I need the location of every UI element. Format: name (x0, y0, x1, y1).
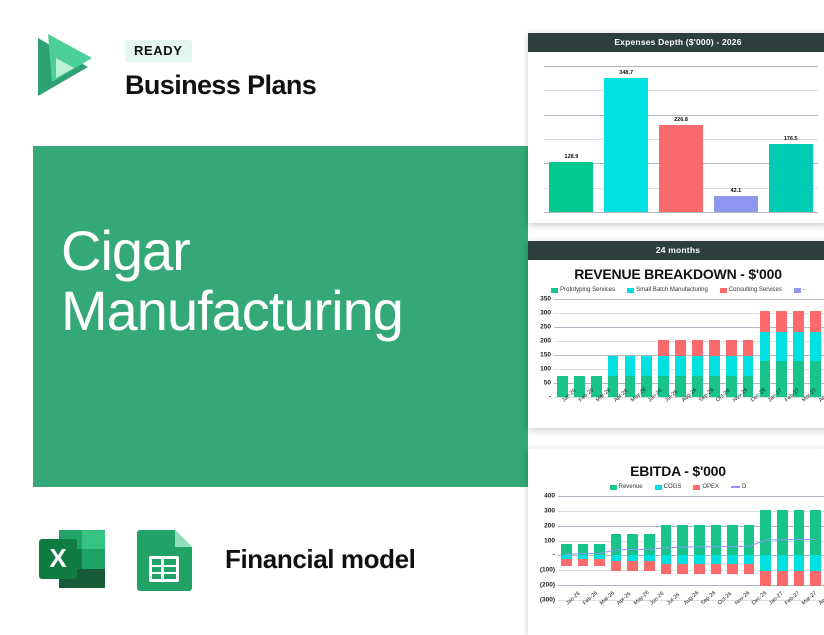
revenue-legend-label: - (803, 287, 805, 293)
chart-card-revenue: 24 months REVENUE BREAKDOWN - $'000 Prot… (528, 241, 824, 428)
stack-segment (726, 356, 737, 376)
brand-name: Business Plans (125, 70, 316, 101)
ebitda-chart-legend: RevenueCOGSOPEXD (528, 481, 824, 492)
stack-segment (709, 340, 720, 356)
stack-segment (743, 340, 754, 356)
revenue-chart-legend: Prototyping ServicesSmall Batch Manufact… (528, 284, 824, 295)
bar-2 (604, 78, 648, 212)
revenue-chart-title: REVENUE BREAKDOWN - $'000 (528, 260, 824, 284)
stack-segment (776, 332, 787, 361)
ebitda-legend-swatch (731, 486, 740, 488)
page-title-line-2: Manufacturing (61, 281, 501, 341)
expenses-plot-area: 128.9348.7226.842.1176.5 (544, 66, 818, 212)
stack-segment (760, 311, 771, 331)
revenue-chart-header: 24 months (528, 241, 824, 260)
revenue-legend-item: Prototyping Services (551, 287, 615, 293)
bar-value-label: 226.8 (674, 117, 688, 123)
ebitda-legend-label: OPEX (702, 484, 719, 490)
stack-segment (776, 311, 787, 331)
ready-badge: READY (125, 40, 192, 62)
stack-segment (743, 356, 754, 376)
ebitda-legend-swatch (655, 485, 662, 490)
ebitda-legend-swatch (610, 485, 617, 490)
stack-segment (810, 311, 821, 331)
gridline (544, 90, 818, 91)
ebitda-legend-item: COGS (655, 484, 682, 490)
stack-segment (675, 340, 686, 356)
ebitda-x-axis: Jan-26Feb-26Mar-26Apr-26May-26Jun-26Jul-… (558, 600, 824, 628)
gridline (544, 115, 818, 116)
ebitda-legend-label: Revenue (619, 484, 643, 490)
y-axis-label: 250 (540, 324, 554, 331)
stack-segment (692, 340, 703, 356)
y-axis-label: 350 (540, 296, 554, 303)
ebitda-plot-area: 400300200100-(100)(200)(300) (558, 496, 824, 600)
stack-segment (675, 356, 686, 376)
revenue-legend-item: Small Batch Manufacturing (627, 287, 708, 293)
chart-card-ebitda: EBITDA - $'000 RevenueCOGSOPEXD 40030020… (528, 449, 824, 635)
page-title-line-1: Cigar (61, 221, 501, 281)
chart-card-expenses: Expenses Depth ($'000) - 2026 128.9348.7… (528, 33, 824, 223)
stack-segment (709, 356, 720, 376)
y-axis-label: (300) (540, 597, 558, 604)
bar-value-label: 42.1 (730, 188, 741, 194)
stack-segment (793, 311, 804, 331)
y-axis-label: 400 (544, 493, 558, 500)
gridline (554, 299, 824, 300)
y-axis-label: 300 (540, 310, 554, 317)
y-axis-label: 200 (540, 338, 554, 345)
bar-value-label: 128.9 (565, 154, 579, 160)
revenue-legend-label: Prototyping Services (560, 287, 615, 293)
ebitda-legend-swatch (693, 485, 700, 490)
gridline (544, 212, 818, 213)
revenue-legend-swatch (794, 288, 801, 293)
stack-segment (625, 356, 636, 376)
stack-segment (658, 356, 669, 376)
revenue-x-axis: Jan-26Feb-26Mar-26Apr-26May-26Jun-26Jul-… (554, 397, 824, 425)
bar-3 (659, 125, 703, 212)
play-triangle-logo-icon (30, 32, 96, 102)
bar-5 (769, 144, 813, 212)
microsoft-excel-icon: X (33, 520, 111, 598)
revenue-legend-item: Consulting Services (720, 287, 782, 293)
y-axis-label: 50 (544, 380, 554, 387)
stack-segment (726, 340, 737, 356)
y-axis-label: (200) (540, 582, 558, 589)
ebitda-legend-item: Revenue (610, 484, 643, 490)
revenue-plot-area: 35030025020015010050- (554, 299, 824, 397)
revenue-legend-label: Small Batch Manufacturing (636, 287, 708, 293)
revenue-legend-swatch (627, 288, 634, 293)
page-title: Cigar Manufacturing (61, 221, 501, 341)
title-panel: Cigar Manufacturing (33, 146, 528, 487)
y-axis-label: 100 (540, 366, 554, 373)
y-axis-label: (100) (540, 567, 558, 574)
stack-segment (608, 356, 619, 376)
footer-label: Financial model (225, 544, 416, 575)
y-axis-label: 300 (544, 507, 558, 514)
bar-value-label: 176.5 (784, 136, 798, 142)
ebitda-legend-item: OPEX (693, 484, 719, 490)
stack-segment (760, 332, 771, 361)
revenue-legend-swatch (720, 288, 727, 293)
revenue-legend-item: - (794, 287, 805, 293)
bar-1 (549, 162, 593, 212)
revenue-legend-label: Consulting Services (729, 287, 782, 293)
ebitda-line-series (558, 496, 824, 600)
ebitda-legend-label: D (742, 484, 746, 490)
y-axis-label: 150 (540, 352, 554, 359)
bar-value-label: 348.7 (619, 70, 633, 76)
ebitda-legend-item: D (731, 484, 746, 490)
footer-row: X Financial model (33, 518, 416, 600)
svg-text:X: X (49, 543, 67, 573)
y-axis-label: 100 (544, 537, 558, 544)
stack-segment (658, 340, 669, 356)
stack-segment (810, 332, 821, 361)
ebitda-chart-title: EBITDA - $'000 (528, 449, 824, 481)
revenue-legend-swatch (551, 288, 558, 293)
stack-segment (793, 332, 804, 361)
y-axis-label: 200 (544, 522, 558, 529)
ebitda-legend-label: COGS (664, 484, 682, 490)
brand-logo-block: READY Business Plans (30, 28, 330, 106)
gridline (544, 66, 818, 67)
stack-segment (692, 356, 703, 376)
expenses-chart-header: Expenses Depth ($'000) - 2026 (528, 33, 824, 52)
bar-4 (714, 196, 758, 212)
google-sheets-icon (125, 520, 203, 598)
stack-segment (641, 356, 652, 376)
